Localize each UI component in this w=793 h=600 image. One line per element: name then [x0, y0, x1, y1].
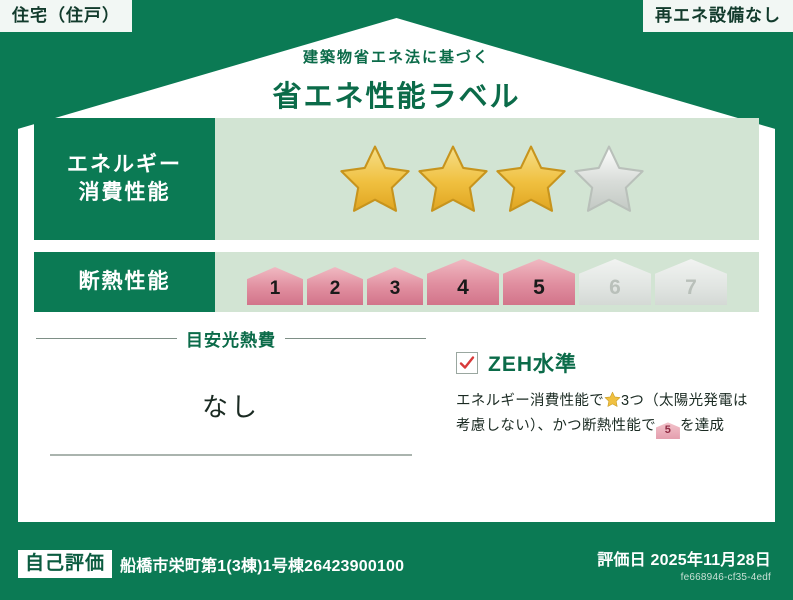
heading-rule-right [285, 338, 426, 339]
check-icon [458, 354, 476, 372]
insulation-grade-7: 7 [655, 259, 727, 305]
insulation-performance-row: 断熱性能 1234567 [34, 252, 759, 312]
insulation-performance-value: 1234567 [215, 252, 759, 312]
zeh-description: エネルギー消費性能で3つ（太陽光発電は考慮しない）、かつ断熱性能で5を達成 [456, 389, 759, 440]
insulation-grade-scale: 1234567 [247, 259, 727, 305]
insulation-performance-label-box: 断熱性能 [34, 252, 215, 312]
heading-rule-left [36, 338, 177, 339]
property-address: 船橋市栄町第1(3棟)1号棟26423900100 [120, 552, 404, 576]
inline-star-icon [604, 391, 621, 408]
insulation-grade-4: 4 [427, 259, 499, 305]
energy-label-line1: エネルギー [67, 151, 182, 179]
energy-performance-row: エネルギー 消費性能 [34, 118, 759, 240]
utility-cost-underline [50, 454, 412, 456]
zeh-title: ZEH水準 [488, 348, 577, 378]
zeh-checkbox[interactable] [456, 352, 478, 374]
insulation-label: 断熱性能 [79, 268, 171, 296]
utility-cost-heading-text: 目安光熱費 [186, 326, 276, 351]
footer-left: 自己評価 船橋市栄町第1(3棟)1号棟26423900100 [18, 550, 404, 578]
label-footer: 自己評価 船橋市栄町第1(3棟)1号棟26423900100 評価日 2025年… [18, 536, 775, 592]
insulation-grade-2: 2 [307, 267, 363, 305]
utility-cost-heading: 目安光熱費 [36, 326, 426, 351]
energy-performance-label: 住宅（住戸） 再エネ設備なし 建築物省エネ法に基づく 省エネ性能ラベル エネルギ… [0, 0, 793, 600]
star-filled-icon [339, 143, 411, 215]
insulation-grade-1: 1 [247, 267, 303, 305]
document-id: fe668946-cf35-4edf [597, 572, 771, 583]
insulation-grade-6: 6 [579, 259, 651, 305]
star-empty-icon [573, 143, 645, 215]
label-content: エネルギー 消費性能 断熱性能 1234567 目安光熱費 [34, 118, 759, 456]
star-filled-icon [417, 143, 489, 215]
star-rating [339, 143, 645, 215]
utility-cost-value: なし [36, 351, 426, 454]
renewable-energy-tag: 再エネ設備なし [643, 0, 793, 32]
building-type-tag: 住宅（住戸） [0, 0, 132, 32]
zeh-desc-part1: エネルギー消費性能で [456, 393, 604, 409]
zeh-section: ZEH水準 エネルギー消費性能で3つ（太陽光発電は考慮しない）、かつ断熱性能で5… [426, 326, 759, 456]
zeh-heading: ZEH水準 [456, 348, 759, 378]
insulation-grade-3: 3 [367, 267, 423, 305]
insulation-grade-5: 5 [503, 259, 575, 305]
footer-right: 評価日 2025年11月28日 fe668946-cf35-4edf [597, 546, 775, 583]
zeh-desc-part3: を達成 [680, 418, 724, 434]
energy-label-line2: 消費性能 [79, 179, 171, 207]
star-filled-icon [495, 143, 567, 215]
energy-performance-label-box: エネルギー 消費性能 [34, 118, 215, 240]
energy-performance-value [215, 118, 759, 240]
inline-grade-badge: 5 [656, 422, 680, 439]
self-evaluation-badge: 自己評価 [18, 550, 112, 578]
lower-section: 目安光熱費 なし ZEH水準 エネルギー消費性能で3つ（太陽光発電は考慮しな [34, 326, 759, 456]
evaluation-date: 評価日 2025年11月28日 [597, 546, 771, 570]
utility-cost-section: 目安光熱費 なし [34, 326, 426, 456]
